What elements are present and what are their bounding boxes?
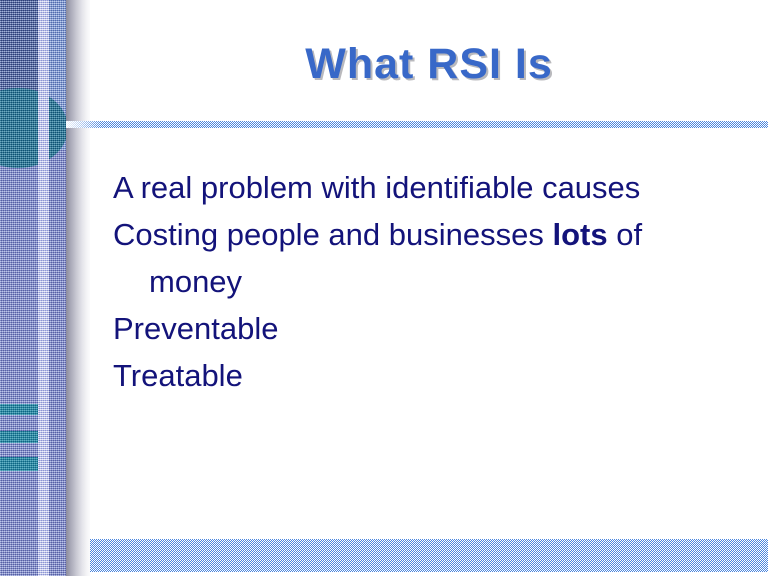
teal-bar-3 bbox=[0, 457, 38, 471]
bullet-list: A real problem with identifiable causes … bbox=[113, 164, 727, 399]
teal-bar-2 bbox=[0, 431, 38, 443]
sidebar-texture-dark-top bbox=[0, 0, 40, 100]
list-item: Treatable bbox=[113, 352, 727, 399]
sidebar-texture-violet bbox=[0, 150, 68, 576]
title-underline-rule bbox=[66, 121, 768, 128]
title-underline-fade bbox=[66, 121, 102, 128]
lavender-stripe bbox=[38, 0, 49, 576]
emphasised-word: lots bbox=[552, 217, 607, 252]
page-title: What RSI Is bbox=[90, 38, 768, 90]
list-item: Costing people and businesses lots of mo… bbox=[113, 211, 727, 305]
slide-canvas: What RSI Is A real problem with identifi… bbox=[0, 0, 768, 576]
list-item: A real problem with identifiable causes bbox=[113, 164, 727, 211]
sidebar-decoration bbox=[0, 0, 90, 576]
teal-bar-1 bbox=[0, 404, 38, 415]
sidebar-edge-gradient bbox=[66, 0, 90, 576]
footer-band bbox=[90, 539, 768, 572]
list-item: Preventable bbox=[113, 305, 727, 352]
